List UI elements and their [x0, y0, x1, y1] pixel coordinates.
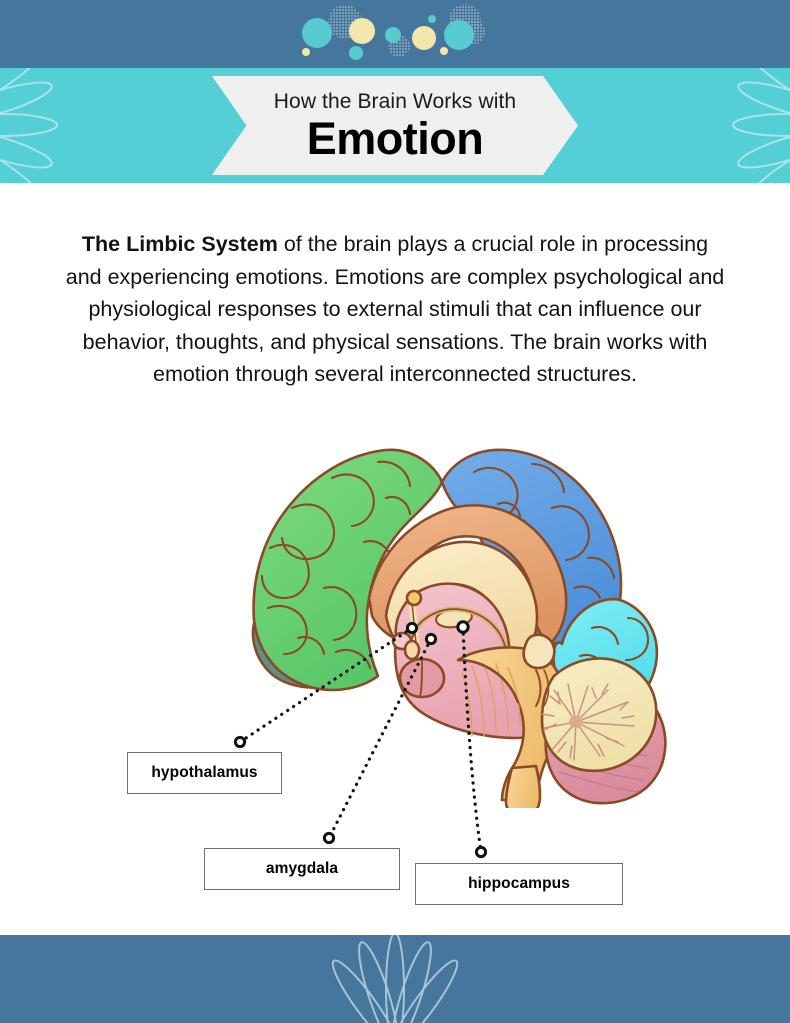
- top-decor-band: [0, 0, 790, 68]
- petal-fan-right-icon: [728, 68, 790, 183]
- intro-paragraph: The Limbic System of the brain plays a c…: [65, 228, 725, 391]
- top-circles-decoration: [0, 0, 790, 68]
- title-ribbon: [212, 76, 578, 175]
- label-box-amygdala[interactable]: amygdala: [204, 848, 400, 890]
- ribbon-notch-right: [543, 76, 578, 175]
- footer-decor-band: [0, 935, 790, 1023]
- brain-cross-section-illustration: [236, 438, 686, 808]
- petal-fan-left-icon: [0, 68, 62, 183]
- label-box-hypothalamus[interactable]: hypothalamus: [127, 752, 282, 794]
- endpoint-dot-hippocampus: [476, 847, 485, 856]
- endpoint-dot-amygdala: [324, 833, 333, 842]
- petal-fan-footer-icon: [0, 935, 790, 1023]
- label-box-hippocampus[interactable]: hippocampus: [415, 863, 623, 905]
- intro-lead-term: The Limbic System: [82, 232, 278, 256]
- brain-diagram: [236, 438, 686, 808]
